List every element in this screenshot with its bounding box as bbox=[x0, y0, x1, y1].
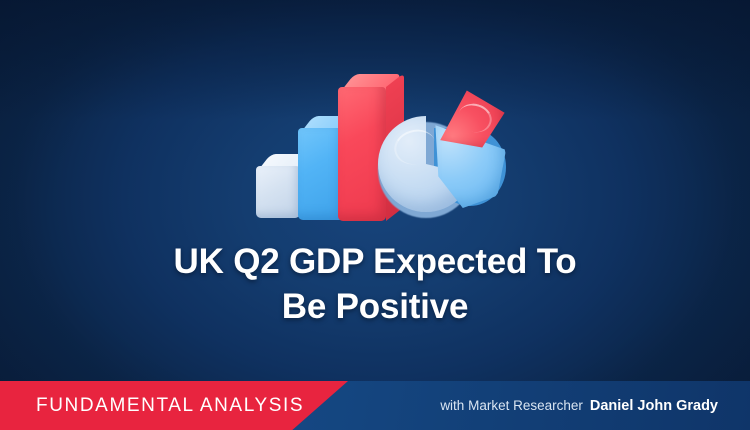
byline-role: with Market Researcher bbox=[440, 398, 583, 413]
category-label: FUNDAMENTAL ANALYSIS bbox=[36, 381, 304, 430]
bottom-banner: FUNDAMENTAL ANALYSIS with Market Researc… bbox=[0, 381, 750, 430]
promo-card: UK Q2 GDP Expected To Be Positive FUNDAM… bbox=[0, 0, 750, 430]
page-title: UK Q2 GDP Expected To Be Positive bbox=[0, 240, 750, 330]
bar-small-front-face bbox=[256, 166, 300, 218]
byline: with Market Researcher Daniel John Grady bbox=[440, 381, 718, 430]
pie-chart-icon bbox=[372, 88, 504, 222]
title-line-1: UK Q2 GDP Expected To bbox=[174, 242, 577, 281]
byline-author: Daniel John Grady bbox=[590, 398, 718, 414]
title-line-2: Be Positive bbox=[282, 287, 469, 326]
chart-illustration bbox=[250, 58, 512, 224]
